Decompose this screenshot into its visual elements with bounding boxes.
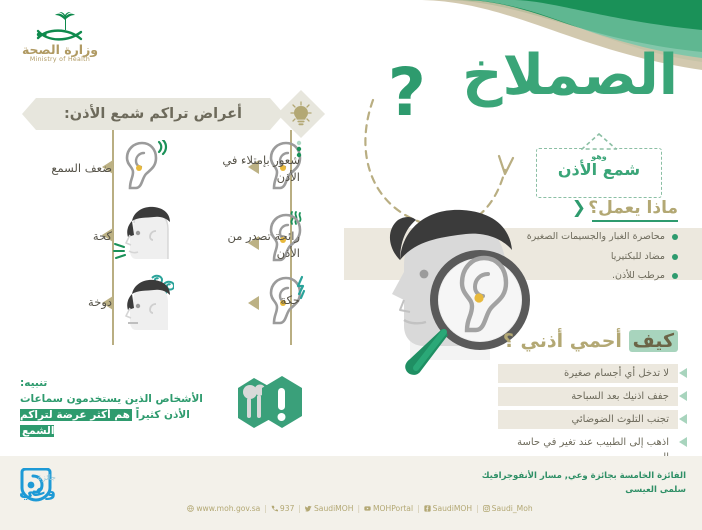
social-label: SaudiMOH (433, 504, 472, 513)
section-title-what-it-does: ماذا يعمل؟ (588, 198, 678, 218)
head-dizzy-icon (112, 272, 174, 338)
protection-list: لا تدخل أي أجسام صغيرة جفف اذنيك بعد الس… (498, 364, 678, 471)
symptom-label-itch: حكة (220, 292, 300, 309)
social-link-website[interactable]: www.moh.gov.sa (187, 504, 260, 513)
social-link-instagram[interactable]: Saudi_Moh (483, 504, 533, 513)
social-links-bar[interactable]: www.moh.gov.sa | 937 | SaudiMOH | MOHPor… (200, 504, 520, 513)
list-item-label: لا تدخل أي أجسام صغيرة (564, 368, 669, 379)
chevron-left-icon (679, 414, 687, 424)
exclamation-hexagon-icon (232, 374, 304, 434)
list-item-label: جفف اذنيك بعد السباحة (571, 391, 669, 402)
moh-logo: وزارة الصحة Ministry of Health (14, 12, 106, 64)
warning-line-2: الأذن كثيراً هم أكثر عرضة لتراكم الشمع (20, 407, 220, 440)
lightbulb-icon (284, 97, 318, 131)
ministry-name-en: Ministry of Health (14, 56, 106, 63)
twitter-icon (305, 505, 312, 512)
infographic-canvas: وزارة الصحة Ministry of Health الصملاخ ؟… (0, 0, 702, 530)
warning-text-block: تنبيه: الأشخاص الذين يستخدمون سماعات الأ… (20, 376, 220, 439)
title-question-mark: ؟ (388, 60, 426, 126)
separator: | (298, 504, 301, 513)
warning-line-1: الأشخاص الذين يستخدمون سماعات (20, 391, 220, 407)
warning-line-2-plain: الأذن كثيراً (136, 409, 190, 421)
credit-line-2: سلمى العيسى (426, 484, 686, 498)
social-label: 937 (280, 504, 295, 513)
social-link-twitter[interactable]: SaudiMOH (305, 504, 353, 513)
chevron-left-icon (679, 437, 687, 447)
social-label: Saudi_Moh (492, 504, 533, 513)
section-chevron-icon: ❮ (572, 200, 586, 217)
ear-hearing-loss-icon (118, 140, 170, 196)
separator: | (264, 504, 267, 513)
symptom-label-dizzy: دوخة (26, 294, 112, 311)
separator: | (357, 504, 360, 513)
symptom-label-odor: رائحة تصدر من الأذن (220, 228, 300, 261)
list-item: مضاد للبكتيريا (503, 250, 678, 265)
symptom-label-hearing-loss: ضعف السمع (26, 160, 112, 177)
award-big-label: وعي (19, 481, 56, 501)
social-link-facebook[interactable]: SaudiMOH (424, 504, 472, 513)
social-label: SaudiMOH (314, 504, 353, 513)
social-label: MOHPortal (373, 504, 413, 513)
list-item: جفف اذنيك بعد السباحة (498, 387, 678, 406)
list-item: مرطب للأذن. (503, 269, 678, 284)
warning-title: تنبيه: (20, 376, 220, 391)
social-link-phone[interactable]: 937 (271, 504, 295, 513)
separator: | (476, 504, 479, 513)
warning-highlight: هم أكثر عرضة لتراكم الشمع (20, 409, 132, 437)
section-title-underline (592, 220, 678, 222)
chevron-left-icon (679, 391, 687, 401)
social-label: www.moh.gov.sa (196, 504, 260, 513)
symptom-label-cough: كحة (26, 228, 112, 245)
phone-icon (271, 505, 278, 512)
instagram-icon (483, 505, 490, 512)
credit-line-1: الفائزة الخامسة بجائزة وعي, مسار الأنفوج… (426, 470, 686, 484)
subbox-peak (581, 133, 617, 150)
what-it-does-list: محاصرة الغبار والجسيمات الصغيرة مضاد للب… (503, 230, 678, 289)
symptoms-header-label: أعراض تراكم شمع الأذن: (64, 106, 242, 122)
protection-title-rest: أحمي أذني ؟ (503, 330, 622, 352)
subtitle-main: شمع الأذن (537, 161, 661, 179)
symptoms-header: أعراض تراكم شمع الأذن: (22, 98, 284, 130)
social-link-youtube[interactable]: MOHPortal (364, 504, 413, 513)
youtube-icon (364, 505, 371, 512)
facebook-icon (424, 505, 431, 512)
list-item: تجنب التلوث الضوضائي (498, 410, 678, 429)
wai-award-logo: جائزة وعي (16, 468, 92, 502)
globe-icon (187, 505, 194, 512)
list-item-label: تجنب التلوث الضوضائي (572, 414, 670, 425)
head-cough-icon (112, 205, 174, 271)
page-title: الصملاخ (462, 48, 678, 104)
protection-title-highlight: كيف (629, 330, 678, 352)
separator: | (417, 504, 420, 513)
chevron-left-icon (679, 368, 687, 378)
symptom-label-fullness: شعور بإمتلاء في الأذن (220, 152, 300, 185)
list-item: محاصرة الغبار والجسيمات الصغيرة (503, 230, 678, 245)
credit-block: الفائزة الخامسة بجائزة وعي, مسار الأنفوج… (426, 470, 686, 497)
ministry-name-ar: وزارة الصحة (14, 42, 106, 57)
section-title-protection: كيف أحمي أذني ؟ (503, 330, 678, 353)
list-item: لا تدخل أي أجسام صغيرة (498, 364, 678, 383)
